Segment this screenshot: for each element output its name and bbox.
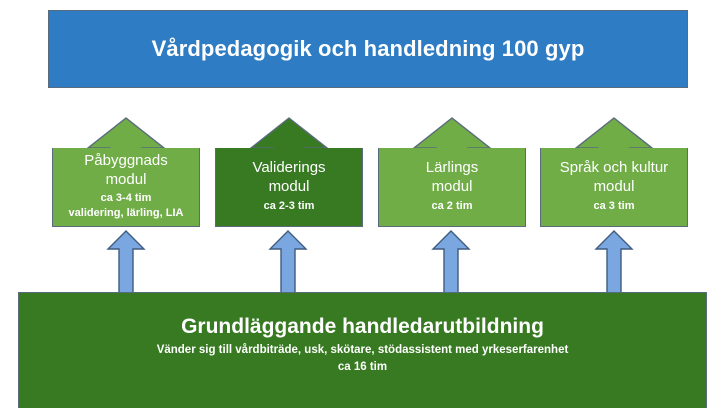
- module-title-line1: Språk och kultur: [560, 159, 668, 176]
- module-title: Påbyggnads modul: [84, 152, 167, 190]
- module-title-line2: modul: [432, 178, 473, 195]
- module-title: Språk och kultur modul: [560, 159, 668, 197]
- module-title: Lärlings modul: [426, 159, 479, 197]
- module-title: Validerings modul: [252, 159, 325, 197]
- module-title-line2: modul: [594, 178, 635, 195]
- module-duration: ca 3-4 tim: [101, 191, 152, 205]
- module-title-line2: modul: [269, 178, 310, 195]
- arrow-up-icon: [574, 117, 654, 151]
- module-duration: ca 2 tim: [432, 199, 473, 213]
- bottom-banner-target-audience: Vänder sig till vårdbiträde, usk, skötar…: [157, 342, 569, 359]
- top-banner: Vårdpedagogik och handledning 100 gyp: [48, 10, 688, 88]
- arrow-up-icon: [86, 117, 166, 151]
- module-box-larlings: Lärlings modul ca 2 tim: [378, 148, 526, 227]
- module-title-line1: Lärlings: [426, 159, 479, 176]
- process-diagram: Vårdpedagogik och handledning 100 gyp På…: [0, 0, 725, 408]
- module-validerings: Validerings modul ca 2-3 tim: [215, 117, 363, 227]
- arrow-up-icon: [249, 117, 329, 151]
- arrow-up-icon: [412, 117, 492, 151]
- bottom-banner: Grundläggande handledarutbildning Vänder…: [18, 292, 707, 408]
- bottom-banner-title: Grundläggande handledarutbildning: [181, 315, 544, 339]
- module-larlings: Lärlings modul ca 2 tim: [378, 117, 526, 227]
- module-title-line2: modul: [106, 171, 147, 188]
- module-box-pabyggnads: Påbyggnads modul ca 3-4 tim validering, …: [52, 148, 200, 227]
- connector-arrow-up-icon-3: [431, 230, 471, 294]
- module-box-sprak-och-kultur: Språk och kultur modul ca 3 tim: [540, 148, 688, 227]
- module-box-validerings: Validerings modul ca 2-3 tim: [215, 148, 363, 227]
- module-sprak-och-kultur: Språk och kultur modul ca 3 tim: [540, 117, 688, 227]
- module-detail: validering, lärling, LIA: [69, 206, 184, 220]
- module-title-line1: Påbyggnads: [84, 152, 167, 169]
- module-title-line1: Validerings: [252, 159, 325, 176]
- connector-arrow-up-icon-4: [594, 230, 634, 294]
- module-duration: ca 2-3 tim: [264, 199, 315, 213]
- module-duration: ca 3 tim: [594, 199, 635, 213]
- top-banner-title: Vårdpedagogik och handledning 100 gyp: [152, 37, 585, 61]
- connector-arrow-up-icon-2: [268, 230, 308, 294]
- module-pabyggnads: Påbyggnads modul ca 3-4 tim validering, …: [52, 117, 200, 227]
- connector-arrow-up-icon-1: [106, 230, 146, 294]
- bottom-banner-duration: ca 16 tim: [338, 359, 387, 376]
